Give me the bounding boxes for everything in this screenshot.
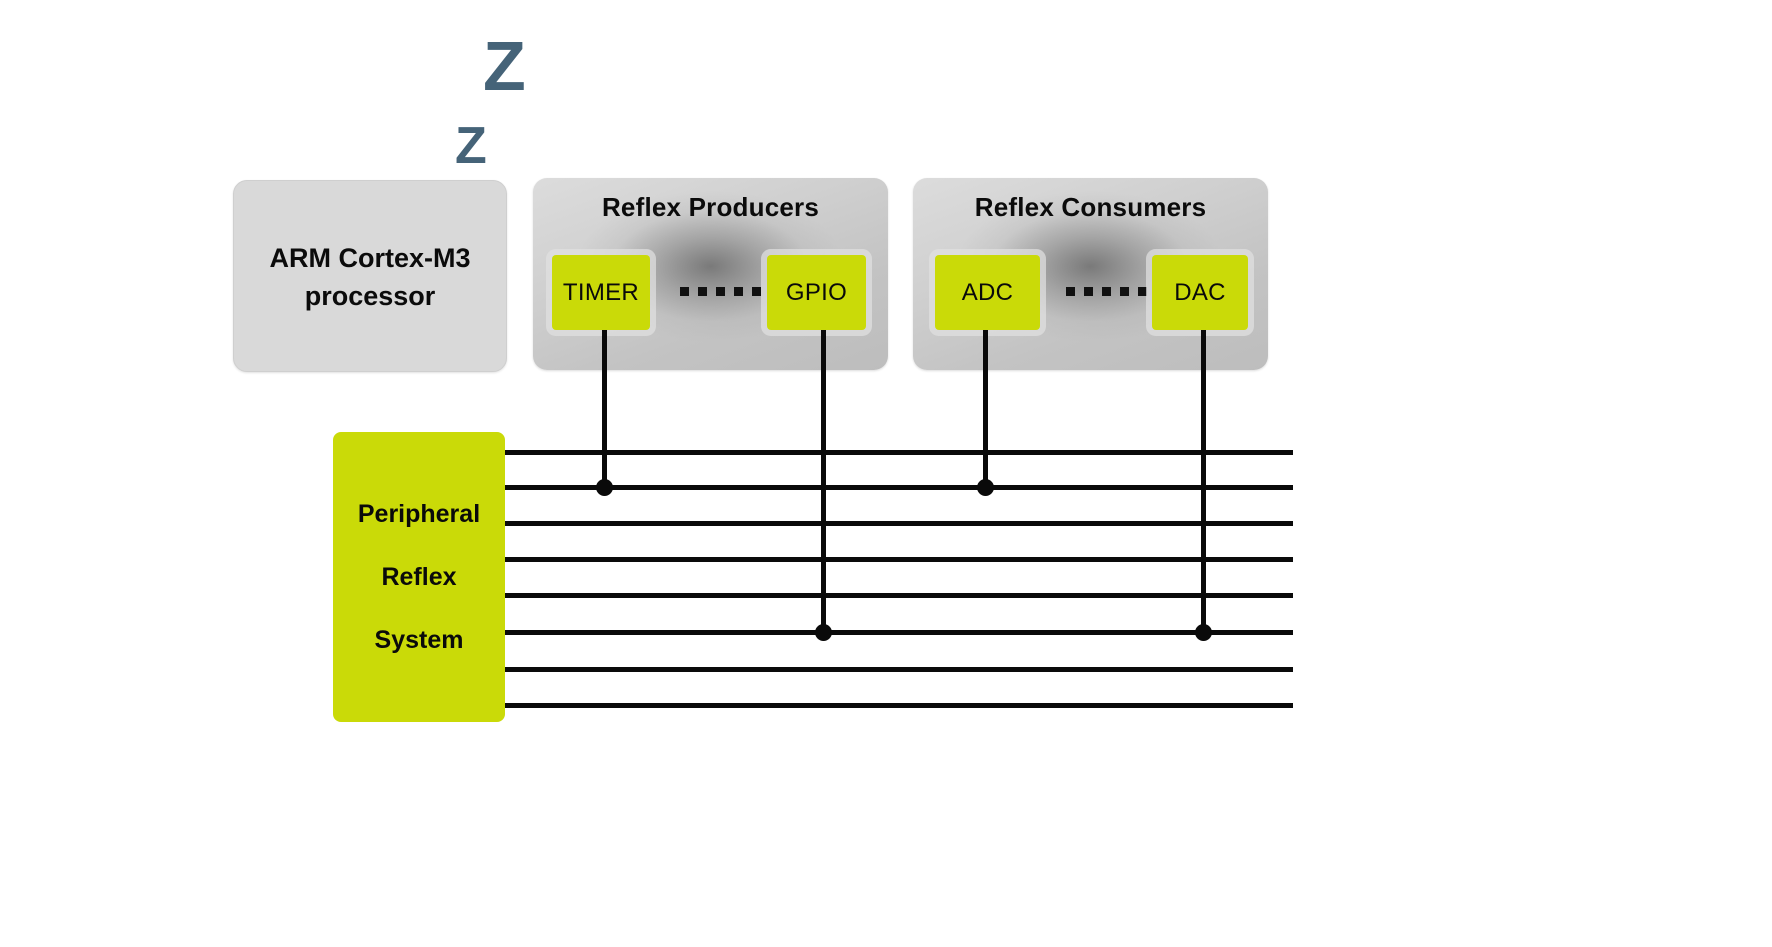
ellipsis-dot (1084, 287, 1093, 296)
bus-line-8 (505, 703, 1293, 708)
dac-block-label: DAC (1174, 279, 1226, 307)
processor-label: ARM Cortex-M3 processor (234, 239, 506, 316)
ellipsis-dot (1138, 287, 1147, 296)
ellipsis-dot (734, 287, 743, 296)
prs-label-line1: Peripheral (358, 500, 480, 529)
timer-wire (602, 330, 607, 490)
junction-dot-adc (977, 479, 994, 496)
bus-line-2 (505, 485, 1293, 490)
adc-block-label: ADC (962, 279, 1014, 307)
reflex-producers-title: Reflex Producers (533, 192, 888, 223)
peripheral-reflex-system-block[interactable]: Peripheral Reflex System (333, 432, 505, 722)
bus-line-3 (505, 521, 1293, 526)
ellipsis-dot (1120, 287, 1129, 296)
timer-block-label: TIMER (563, 279, 639, 307)
sleep-z-icon-medium: Z (455, 120, 487, 172)
bus-line-5 (505, 593, 1293, 598)
adc-block[interactable]: ADC (935, 255, 1040, 330)
ellipsis-dot (716, 287, 725, 296)
dac-block[interactable]: DAC (1152, 255, 1248, 330)
adc-wire (983, 330, 988, 490)
bus-line-6 (505, 630, 1293, 635)
sleep-z-icon-large: Z (483, 31, 526, 101)
prs-label-line2: Reflex (381, 563, 456, 592)
ellipsis-dot (1066, 287, 1075, 296)
junction-dot-gpio (815, 624, 832, 641)
diagram-canvas: Z Z Z ARM Cortex-M3 processor Reflex Pro… (0, 0, 1772, 947)
ellipsis-dot (680, 287, 689, 296)
arm-cortex-m3-processor-panel[interactable]: ARM Cortex-M3 processor (233, 180, 507, 372)
gpio-wire (821, 330, 826, 635)
ellipsis-dot (1102, 287, 1111, 296)
bus-line-1 (505, 450, 1293, 455)
prs-label-line3: System (375, 626, 464, 655)
processor-label-line1: ARM Cortex-M3 (234, 239, 506, 277)
dac-wire (1201, 330, 1206, 635)
reflex-consumers-title: Reflex Consumers (913, 192, 1268, 223)
gpio-block[interactable]: GPIO (767, 255, 866, 330)
bus-line-4 (505, 557, 1293, 562)
bus-line-7 (505, 667, 1293, 672)
timer-block[interactable]: TIMER (552, 255, 650, 330)
junction-dot-dac (1195, 624, 1212, 641)
junction-dot-timer (596, 479, 613, 496)
gpio-block-label: GPIO (786, 279, 847, 307)
ellipsis-dot (698, 287, 707, 296)
processor-label-line2: processor (234, 277, 506, 315)
ellipsis-dot (752, 287, 761, 296)
